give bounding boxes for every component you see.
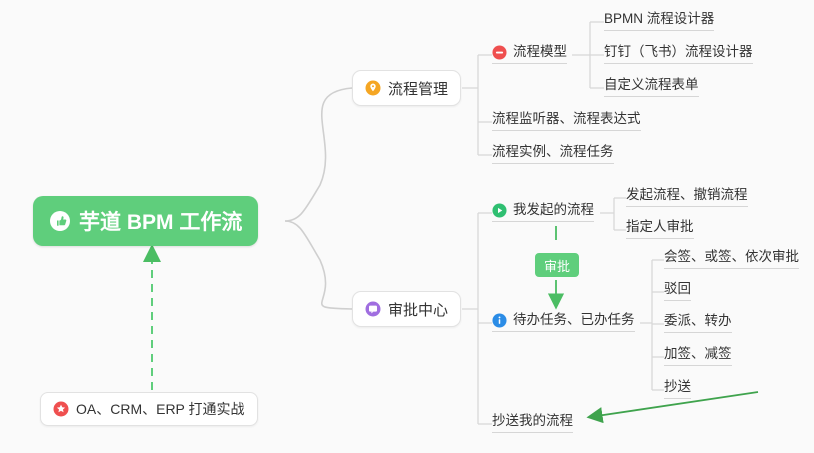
- node-label-countersign: 会签、或签、依次审批: [664, 249, 799, 265]
- node-label-cc: 抄送: [664, 379, 691, 395]
- node-label-assign-approver: 指定人审批: [626, 219, 694, 235]
- branch-node-approval-center[interactable]: 审批中心: [352, 291, 461, 327]
- node-my-flows[interactable]: 我发起的流程: [492, 202, 594, 222]
- minus-circle-icon: [492, 45, 507, 60]
- mindmap-canvas: 芋道 BPM 工作流 流程管理 流程模型 BPMN 流程设计器 钉钉（飞书）流程…: [0, 0, 814, 453]
- star-circle-icon: [53, 401, 69, 417]
- node-label-cc-to-me: 抄送我的流程: [492, 413, 573, 429]
- play-circle-icon: [492, 203, 507, 218]
- node-countersign[interactable]: 会签、或签、依次审批: [664, 249, 799, 269]
- node-listener-expression[interactable]: 流程监听器、流程表达式: [492, 111, 641, 131]
- node-add-remove-sign[interactable]: 加签、减签: [664, 346, 732, 366]
- node-process-model[interactable]: 流程模型: [492, 44, 567, 64]
- node-label-my-flows: 我发起的流程: [513, 202, 594, 218]
- node-label-dingtalk-designer: 钉钉（飞书）流程设计器: [604, 44, 753, 60]
- location-pin-icon: [365, 80, 381, 96]
- node-label-instance-task: 流程实例、流程任务: [492, 144, 614, 160]
- branch-node-process-management[interactable]: 流程管理: [352, 70, 461, 106]
- thumbs-up-icon: [49, 210, 71, 232]
- node-start-cancel-flow[interactable]: 发起流程、撤销流程: [626, 187, 748, 207]
- node-label-bpmn-designer: BPMN 流程设计器: [604, 11, 714, 27]
- node-instance-task[interactable]: 流程实例、流程任务: [492, 144, 614, 164]
- node-label-reject: 驳回: [664, 281, 691, 297]
- tag-approval[interactable]: 审批: [535, 253, 579, 277]
- node-dingtalk-designer[interactable]: 钉钉（飞书）流程设计器: [604, 44, 753, 64]
- node-cc[interactable]: 抄送: [664, 379, 691, 399]
- link-root-to-approval-center: [285, 221, 352, 309]
- footnote-node[interactable]: OA、CRM、ERP 打通实战: [40, 392, 258, 426]
- node-label-delegate-transfer: 委派、转办: [664, 313, 732, 329]
- root-label: 芋道 BPM 工作流: [79, 206, 242, 236]
- node-todo-done-tasks[interactable]: 待办任务、已办任务: [492, 312, 635, 332]
- node-label-start-cancel-flow: 发起流程、撤销流程: [626, 187, 748, 203]
- footnote-label: OA、CRM、ERP 打通实战: [76, 399, 245, 419]
- tag-label-approval: 审批: [544, 256, 570, 275]
- node-assign-approver[interactable]: 指定人审批: [626, 219, 694, 239]
- branch-label-approval-center: 审批中心: [388, 299, 448, 320]
- node-label-custom-form: 自定义流程表单: [604, 77, 699, 93]
- node-cc-to-me[interactable]: 抄送我的流程: [492, 413, 573, 433]
- branch-label-process-management: 流程管理: [388, 78, 448, 99]
- node-label-todo-done-tasks: 待办任务、已办任务: [513, 312, 635, 328]
- chat-square-icon: [365, 301, 381, 317]
- node-label-add-remove-sign: 加签、减签: [664, 346, 732, 362]
- node-label-process-model: 流程模型: [513, 44, 567, 60]
- node-label-listener-expression: 流程监听器、流程表达式: [492, 111, 641, 127]
- info-circle-icon: [492, 313, 507, 328]
- root-node[interactable]: 芋道 BPM 工作流: [33, 196, 258, 246]
- node-custom-form[interactable]: 自定义流程表单: [604, 77, 699, 97]
- node-delegate-transfer[interactable]: 委派、转办: [664, 313, 732, 333]
- node-reject[interactable]: 驳回: [664, 281, 691, 301]
- link-root-to-process-mgmt: [285, 88, 352, 221]
- node-bpmn-designer[interactable]: BPMN 流程设计器: [604, 11, 714, 31]
